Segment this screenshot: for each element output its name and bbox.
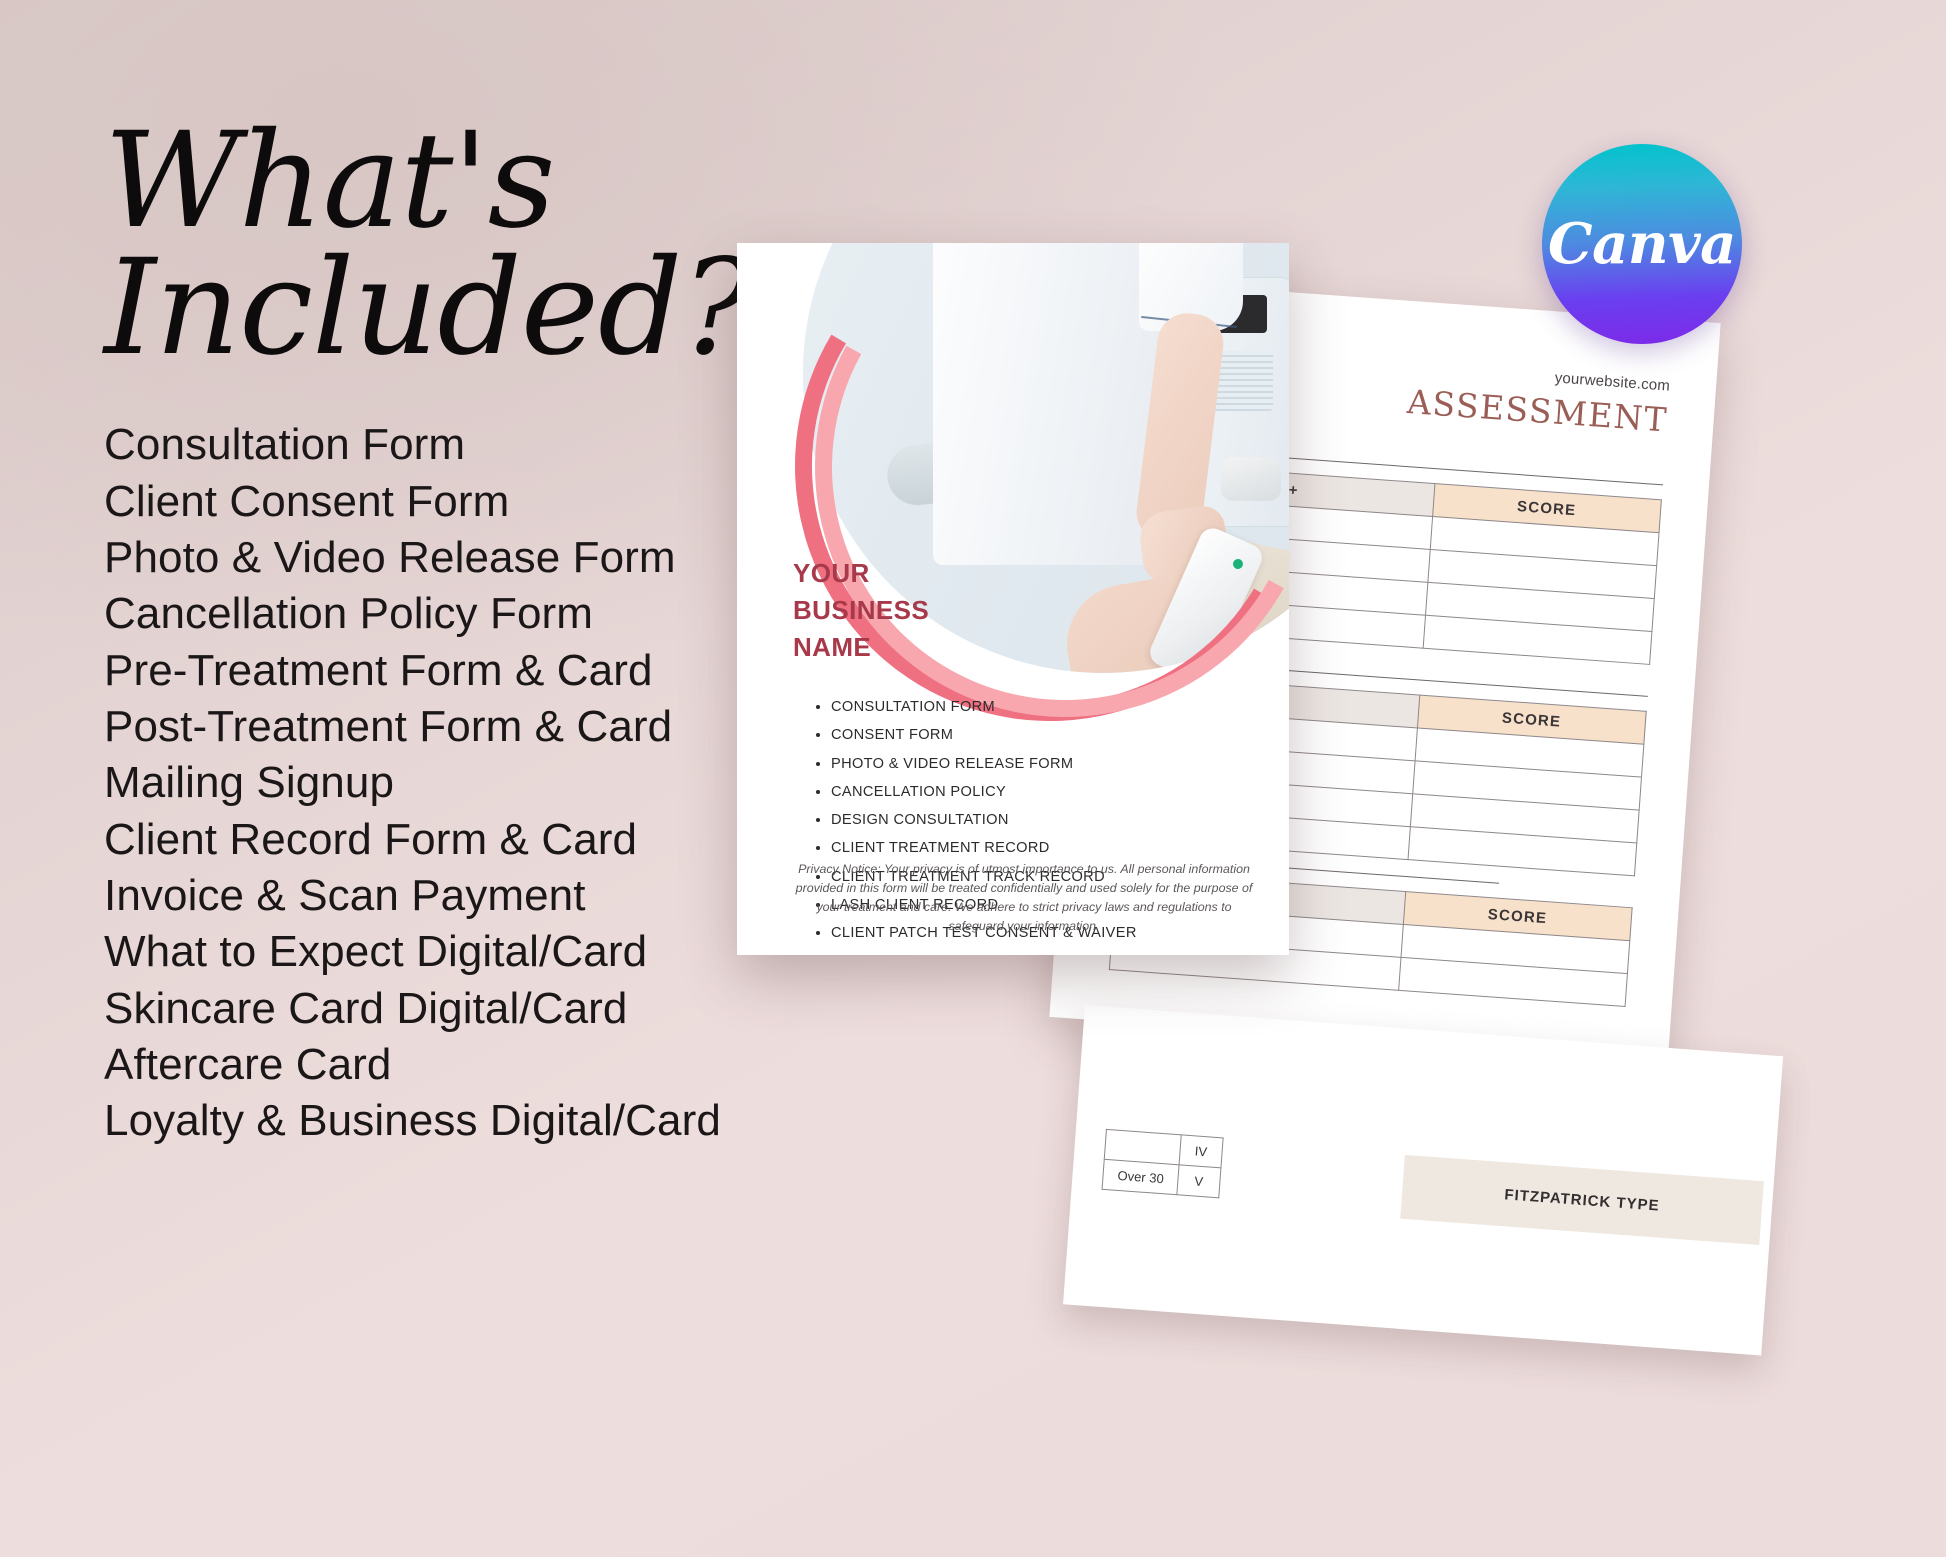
list-item: Loyalty & Business Digital/Card bbox=[104, 1093, 864, 1149]
mini-cell: Over 30 bbox=[1102, 1159, 1179, 1194]
canva-badge[interactable]: Canva bbox=[1542, 144, 1742, 344]
mini-cell: V bbox=[1177, 1165, 1220, 1198]
list-item: Skincare Card Digital/Card bbox=[104, 981, 864, 1037]
list-item: CLIENT TREATMENT RECORD bbox=[831, 834, 1137, 862]
mini-cell: IV bbox=[1179, 1135, 1222, 1168]
list-item: CANCELLATION POLICY bbox=[831, 778, 1137, 806]
flyer-business-name: YOUR BUSINESS NAME bbox=[793, 555, 929, 666]
list-item: CONSENT FORM bbox=[831, 721, 1137, 749]
list-item: DESIGN CONSULTATION bbox=[831, 806, 1137, 834]
fitzpatrick-swatch-grid bbox=[1766, 1116, 1783, 1305]
list-item: CONSULTATION FORM bbox=[831, 693, 1137, 721]
fitzpatrick-sheet: IV Over 30 V FITZPATRICK TYPE bbox=[1063, 1005, 1783, 1355]
consultation-flyer: YOUR BUSINESS NAME CONSULTATION FORM CON… bbox=[737, 243, 1289, 955]
canva-logo-icon: Canva bbox=[1548, 211, 1736, 277]
list-item: PHOTO & VIDEO RELEASE FORM bbox=[831, 750, 1137, 778]
privacy-notice: Privacy Notice: Your privacy is of utmos… bbox=[793, 860, 1255, 935]
fitzpatrick-mini-table: IV Over 30 V bbox=[1102, 1129, 1224, 1198]
poster-canvas: What's Included? Consultation Form Clien… bbox=[0, 0, 1946, 1557]
list-item: Aftercare Card bbox=[104, 1037, 864, 1093]
fitzpatrick-type-band: FITZPATRICK TYPE bbox=[1400, 1155, 1764, 1245]
